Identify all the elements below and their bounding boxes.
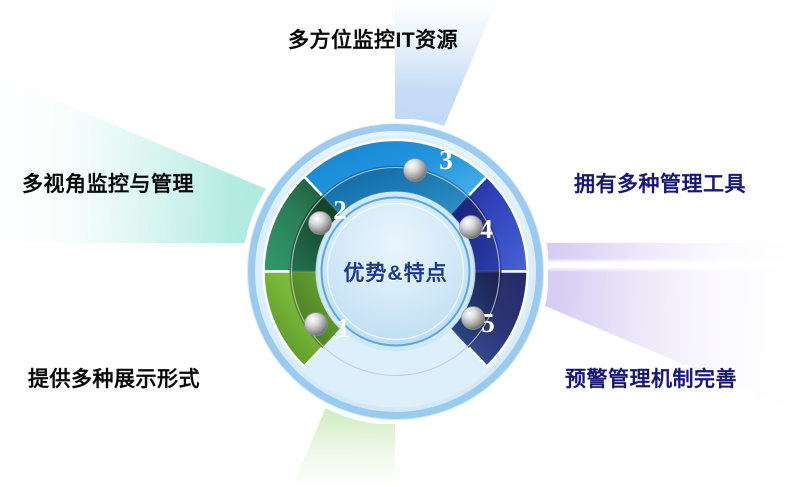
label-upper-left: 多视角监控与管理	[22, 168, 194, 198]
diagram-canvas: 3 2 1 4 5 优势&特点 多方位监控IT资源	[0, 0, 791, 487]
fade-right	[561, 0, 791, 487]
fade-left	[0, 0, 230, 487]
label-lower-right: 预警管理机制完善	[565, 363, 737, 393]
label-top: 多方位监控IT资源	[288, 24, 458, 54]
segment-1-marker[interactable]	[305, 313, 328, 336]
segment-2-number: 2	[333, 195, 347, 225]
segment-3-marker[interactable]	[404, 159, 427, 182]
label-upper-right: 拥有多种管理工具	[574, 168, 746, 198]
segment-1-number: 1	[336, 313, 350, 343]
radial-wheel: 3 2 1 4 5	[243, 119, 548, 424]
segment-5-marker[interactable]	[462, 307, 485, 330]
segment-4-marker[interactable]	[460, 216, 483, 239]
label-lower-left: 提供多种展示形式	[28, 363, 200, 393]
segment-3-number: 3	[439, 145, 453, 175]
segment-2-marker[interactable]	[309, 212, 332, 235]
